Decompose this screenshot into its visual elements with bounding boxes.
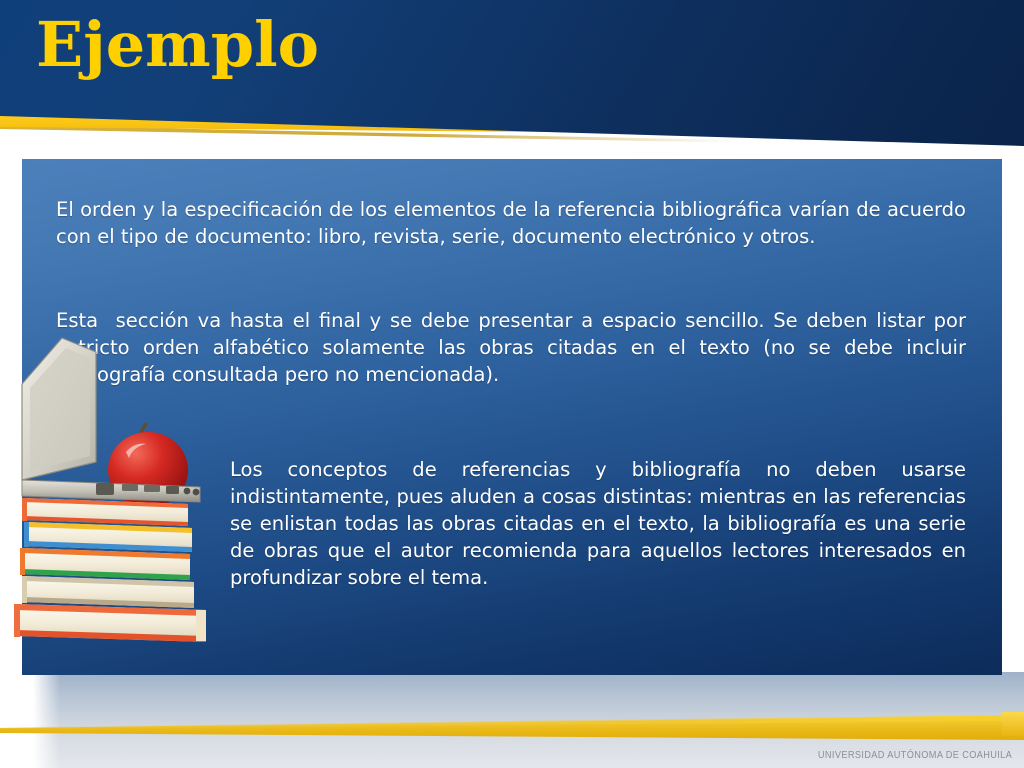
slide-canvas: Ejemplo UNIVERSIDAD AUTÓNOMA DE COAHUILA… bbox=[0, 0, 1024, 768]
footer-institution-label: UNIVERSIDAD AUTÓNOMA DE COAHUILA bbox=[818, 750, 1012, 761]
body-paragraph-3: Los conceptos de referencias y bibliogra… bbox=[230, 456, 966, 591]
footer-gradient-left-fade bbox=[0, 672, 60, 768]
page-title: Ejemplo bbox=[36, 12, 319, 79]
footer-gold-tip bbox=[1002, 712, 1024, 736]
book-stack-shape bbox=[14, 498, 206, 642]
books-laptop-apple-image bbox=[0, 330, 232, 678]
laptop-lid-shape bbox=[22, 338, 96, 480]
body-paragraph-1: El orden y la especificación de los elem… bbox=[56, 196, 966, 250]
